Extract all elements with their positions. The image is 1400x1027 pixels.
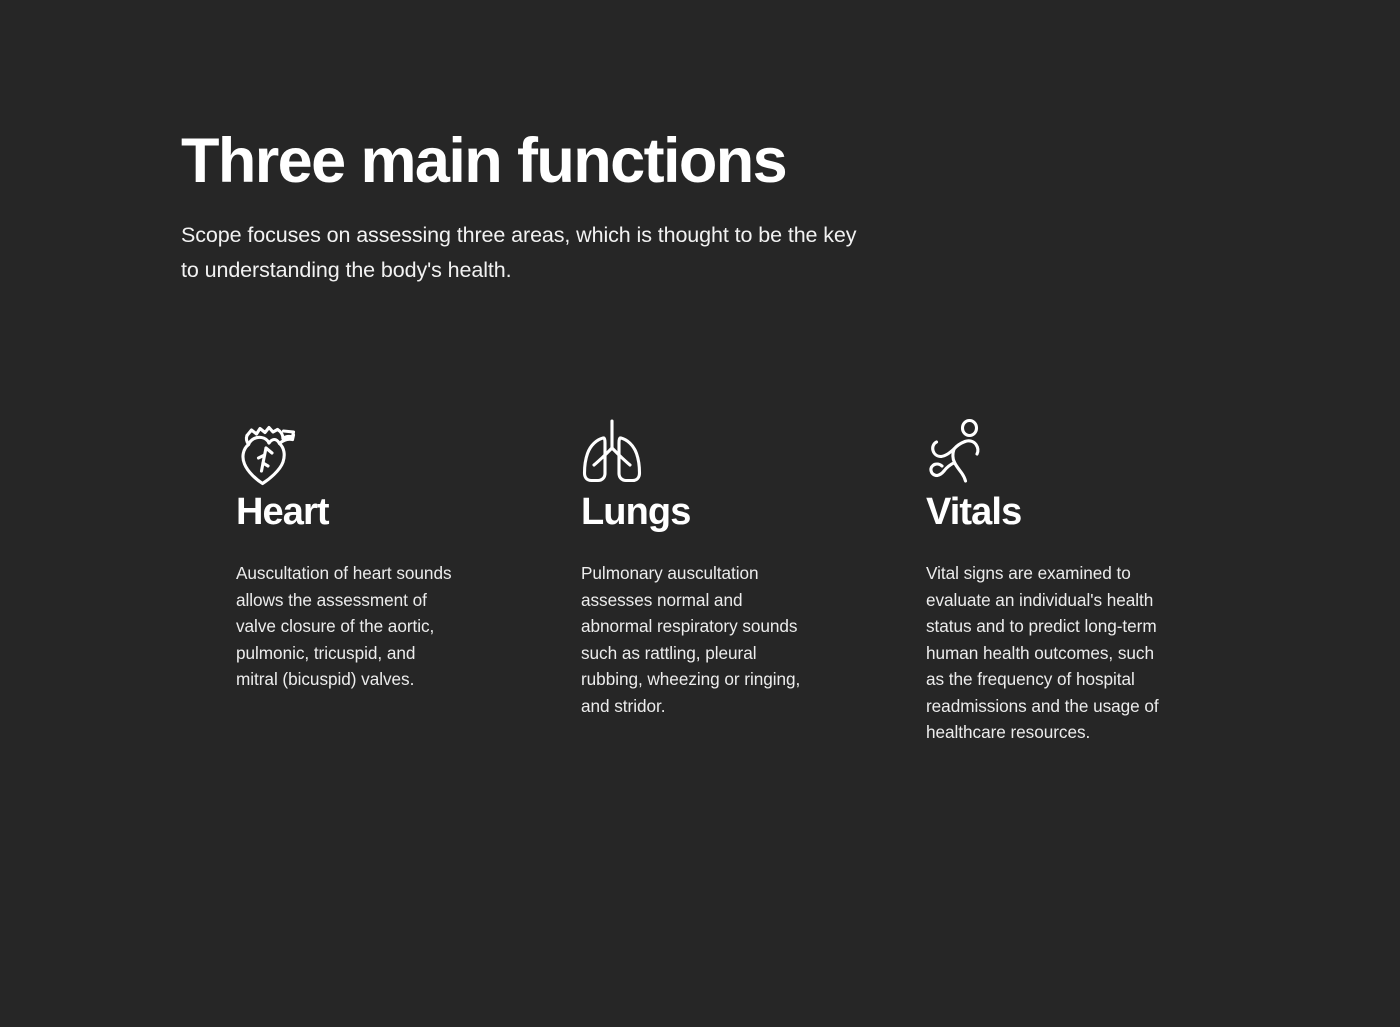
running-person-icon bbox=[926, 418, 1168, 490]
page-subtitle: Scope focuses on assessing three areas, … bbox=[181, 196, 871, 288]
feature-title-vitals: Vitals bbox=[926, 490, 1168, 534]
feature-column-vitals: Vitals Vital signs are examined to evalu… bbox=[926, 418, 1168, 746]
feature-column-lungs: Lungs Pulmonary auscultation assesses no… bbox=[581, 418, 823, 746]
feature-title-heart: Heart bbox=[236, 490, 478, 534]
feature-column-heart: Heart Auscultation of heart sounds allow… bbox=[236, 418, 478, 746]
feature-body-heart: Auscultation of heart sounds allows the … bbox=[236, 534, 458, 693]
anatomical-heart-icon bbox=[236, 418, 478, 490]
lungs-icon bbox=[581, 418, 823, 490]
feature-title-lungs: Lungs bbox=[581, 490, 823, 534]
feature-body-vitals: Vital signs are examined to evaluate an … bbox=[926, 534, 1164, 746]
feature-body-lungs: Pulmonary auscultation assesses normal a… bbox=[581, 534, 817, 719]
slide-root: Three main functions Scope focuses on as… bbox=[0, 0, 1400, 1027]
feature-columns: Heart Auscultation of heart sounds allow… bbox=[236, 418, 1168, 746]
page-title: Three main functions bbox=[181, 126, 901, 196]
header-block: Three main functions Scope focuses on as… bbox=[181, 126, 901, 288]
